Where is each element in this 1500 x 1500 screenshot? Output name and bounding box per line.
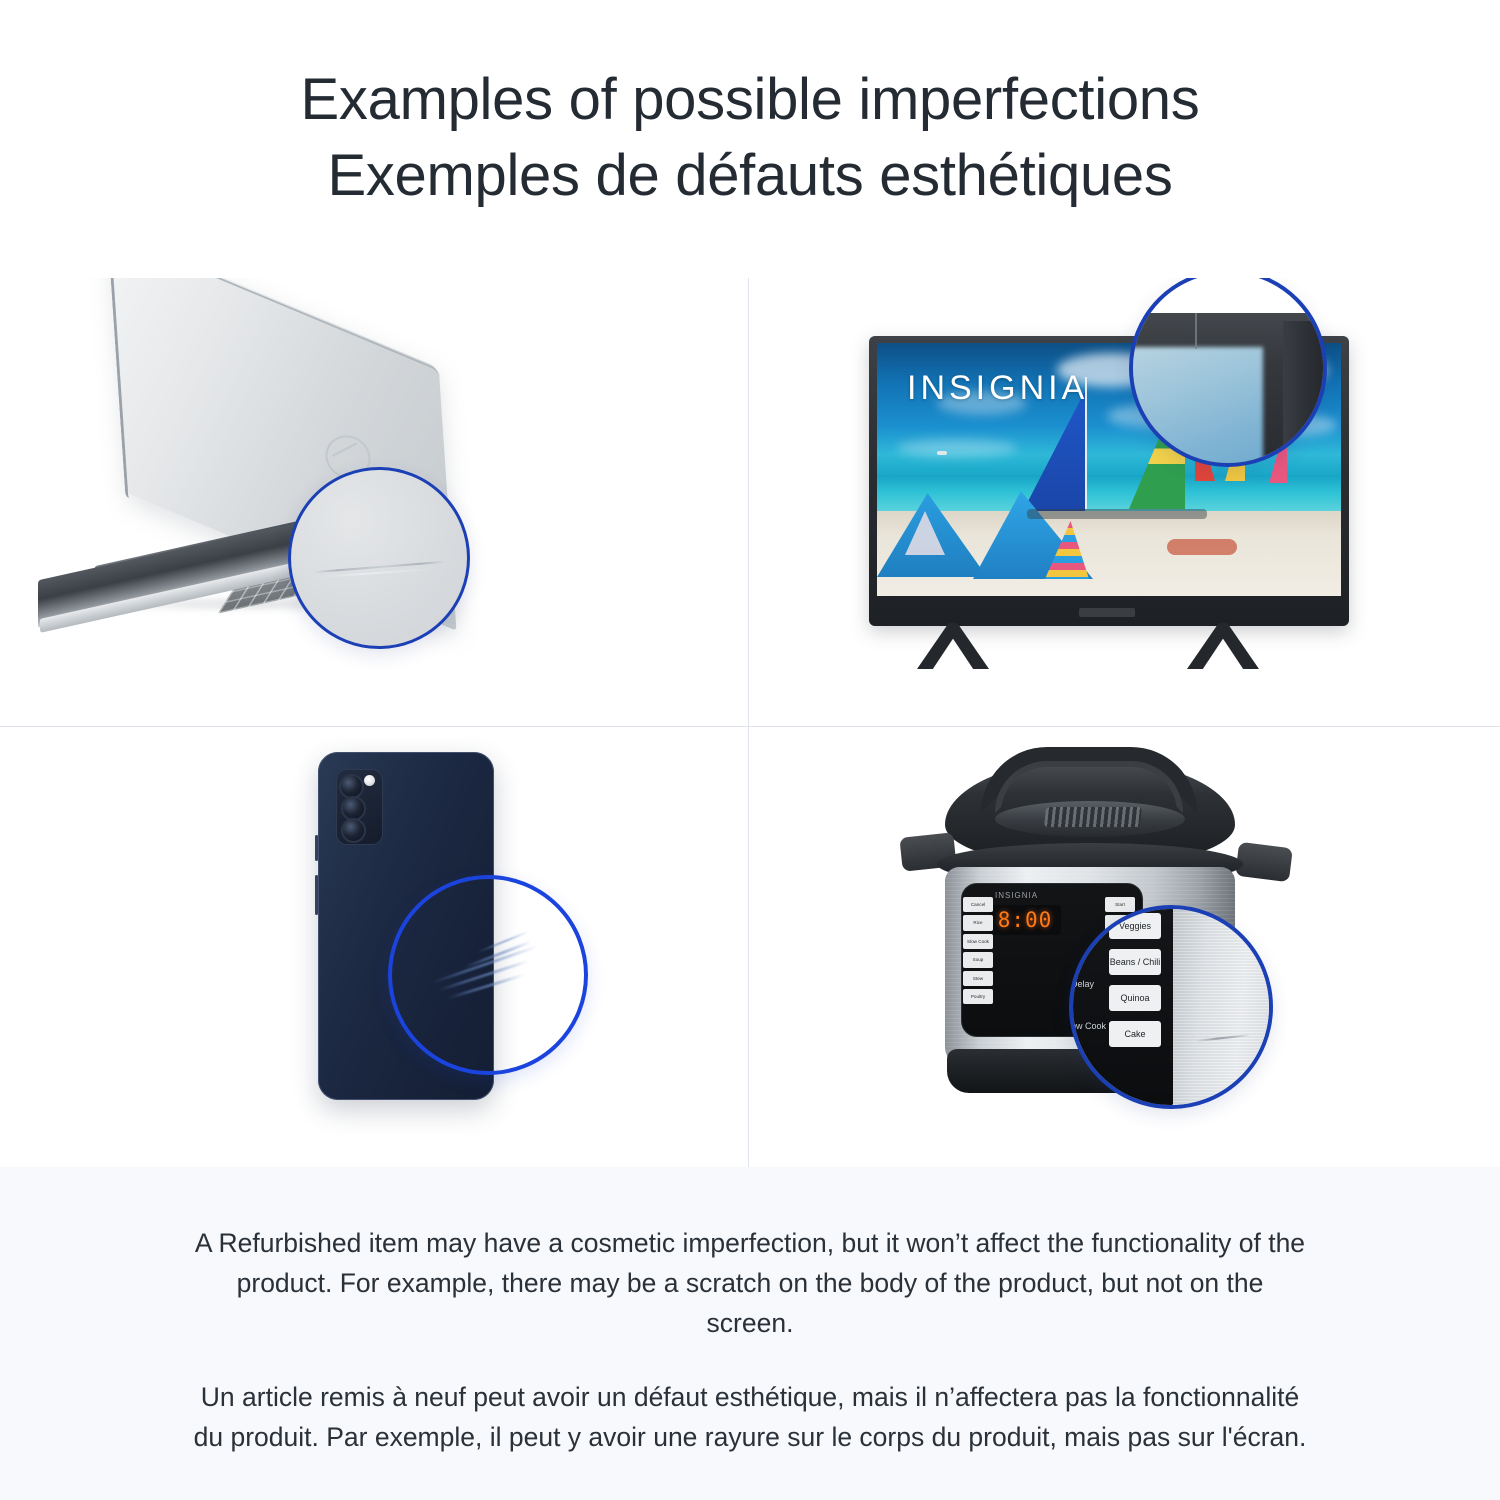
product-example-grid: INSIGNIA xyxy=(0,278,1500,1167)
magnifier-circle-smartphone xyxy=(388,875,588,1075)
grid-cell-pressure-cooker: INSIGNIA 8:00 Cancel Rice Slow Cook Soup… xyxy=(749,727,1500,1167)
beach-object xyxy=(1167,539,1237,555)
cooker-button-zoom[interactable]: Quinoa xyxy=(1109,985,1161,1011)
grid-vertical-divider xyxy=(748,278,749,1167)
page-title-english: Examples of possible imperfections xyxy=(301,62,1200,138)
scratch-mark xyxy=(447,973,524,999)
tv-illustration: INSIGNIA xyxy=(749,278,1500,726)
page-title-french: Exemples de défauts esthétiques xyxy=(327,138,1172,214)
sail-blue xyxy=(1023,391,1085,511)
grid-cell-laptop xyxy=(0,278,748,726)
pressure-cooker-illustration: INSIGNIA 8:00 Cancel Rice Slow Cook Soup… xyxy=(749,727,1500,1167)
imperfections-infographic: Examples of possible imperfections Exemp… xyxy=(0,0,1500,1500)
cooker-button[interactable]: Cancel xyxy=(963,897,993,912)
cooker-button-zoom[interactable]: Beans / Chili xyxy=(1109,949,1161,975)
cooker-button[interactable]: Rice xyxy=(963,915,993,930)
tv-panel-zoom xyxy=(1129,347,1263,467)
phone-volume-button xyxy=(315,835,318,861)
tv-bezel-side-zoom xyxy=(1283,321,1327,467)
cooker-side-handle-right xyxy=(1235,842,1293,882)
cooker-handle-inner xyxy=(995,761,1183,813)
smartphone-illustration xyxy=(0,727,748,1167)
footer-description-panel: A Refurbished item may have a cosmetic i… xyxy=(0,1167,1500,1500)
cooker-buttons-left[interactable]: Cancel Rice Slow Cook Soup Stew Poultry xyxy=(963,897,993,1004)
laptop-illustration xyxy=(0,278,748,726)
footer-paragraph-french: Un article remis à neuf peut avoir un dé… xyxy=(190,1377,1310,1457)
cloud xyxy=(897,439,1017,457)
cooker-button[interactable]: Slow Cook xyxy=(963,934,993,949)
header: Examples of possible imperfections Exemp… xyxy=(0,0,1500,278)
cooker-label-zoom: Delay xyxy=(1071,979,1094,989)
grid-horizontal-divider xyxy=(0,726,1500,727)
cooker-steel-grain xyxy=(1173,905,1273,1109)
distant-boat xyxy=(937,451,947,455)
magnifier-circle-television xyxy=(1129,278,1327,467)
cooker-button[interactable]: Poultry xyxy=(963,989,993,1004)
cooker-brand-label: INSIGNIA xyxy=(995,891,1038,900)
cooker-label-zoom: Slow Cook xyxy=(1069,1021,1106,1031)
boat-hulls xyxy=(1027,509,1207,519)
tv-screen-brand-label: INSIGNIA xyxy=(907,369,1088,408)
grid-cell-television: INSIGNIA xyxy=(749,278,1500,726)
camera-lens-3-icon xyxy=(341,818,366,843)
tv-stand-right xyxy=(1187,623,1259,669)
cooker-button[interactable]: Soup xyxy=(963,952,993,967)
cooker-timer-display: 8:00 xyxy=(989,905,1061,935)
footer-paragraph-english: A Refurbished item may have a cosmetic i… xyxy=(190,1223,1310,1343)
bezel-seam xyxy=(1195,313,1197,349)
grid-cell-smartphone xyxy=(0,727,748,1167)
phone-power-button xyxy=(315,875,318,915)
camera-flash-icon xyxy=(364,775,375,786)
tv-stand-left xyxy=(917,623,989,669)
magnifier-circle-laptop xyxy=(288,467,470,649)
magnifier-circle-pressure-cooker: Veggies Beans / Chili Quinoa Cake Delay … xyxy=(1069,905,1273,1109)
cooker-button-zoom[interactable]: Cake xyxy=(1109,1021,1161,1047)
cooker-button[interactable]: Stew xyxy=(963,971,993,986)
cooker-button-zoom[interactable]: Veggies xyxy=(1109,913,1161,939)
tv-chin-badge xyxy=(1079,608,1135,617)
